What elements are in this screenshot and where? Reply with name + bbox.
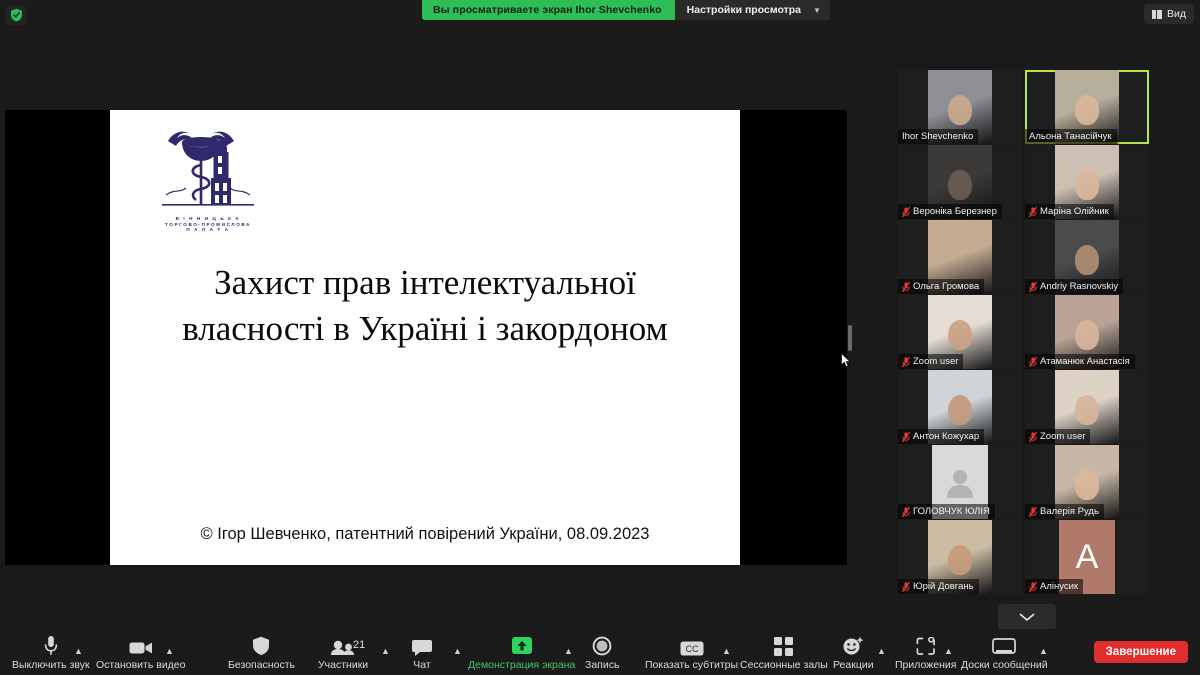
participant-name-label: Zoom user	[898, 354, 963, 369]
record-button[interactable]: Запись	[585, 634, 619, 671]
video-options-caret-icon[interactable]: ▲	[165, 646, 174, 656]
end-meeting-button[interactable]: Завершение	[1094, 641, 1188, 663]
share-screen-button-label: Демонстрация экрана	[468, 659, 575, 671]
participant-name-text: Юрій Довгань	[913, 581, 974, 592]
screen-share-notice-bar: Вы просматриваете экран Ihor Shevchenko …	[422, 0, 830, 20]
participant-name-text: Алінусик	[1040, 581, 1078, 592]
participant-name-text: ГОЛОВЧУК ЮЛІЯ	[913, 506, 990, 517]
share-screen-icon	[510, 634, 534, 656]
microphone-muted-icon	[1029, 282, 1037, 292]
breakout-rooms-grid-icon	[774, 634, 793, 656]
slide-footer-credit: © Ігор Шевченко, патентний повірений Укр…	[110, 525, 740, 544]
encryption-shield-icon[interactable]	[6, 5, 26, 25]
participant-tile[interactable]: Ihor Shevchenko	[898, 70, 1022, 144]
participant-name-text: Andriy Rasnovskiy	[1040, 281, 1118, 292]
grid-view-icon	[1152, 10, 1163, 19]
security-button-label: Безопасность	[228, 659, 295, 671]
mute-button-label: Выключить звук	[12, 659, 90, 671]
participant-name-text: Zoom user	[913, 356, 958, 367]
microphone-icon	[44, 634, 58, 656]
logo-caption-line-3: П А Л А Т А	[160, 227, 256, 233]
view-options-button[interactable]: Настройки просмотра ▼	[673, 0, 830, 20]
top-bar: Вы просматриваете экран Ihor Shevchenko …	[0, 0, 1200, 28]
participant-name-text: Антон Кожухар	[913, 431, 979, 442]
participant-tile[interactable]: ГОЛОВЧУК ЮЛІЯ	[898, 445, 1022, 519]
whiteboards-button[interactable]: Доски сообщений	[961, 634, 1048, 671]
participant-name-label: Атаманюк Анастасія	[1025, 354, 1135, 369]
participant-name-label: Юрій Довгань	[898, 579, 979, 594]
apps-icon	[916, 634, 936, 656]
apps-button-label: Приложения	[895, 659, 956, 671]
breakout-rooms-button-label: Сессионные залы	[740, 659, 828, 671]
apps-caret-icon[interactable]: ▲	[944, 646, 953, 656]
security-button[interactable]: Безопасность	[228, 634, 295, 671]
view-button[interactable]: Вид	[1144, 4, 1195, 24]
participant-name-text: Ольга Громова	[913, 281, 979, 292]
reactions-button-label: Реакции	[833, 659, 874, 671]
audio-options-caret-icon[interactable]: ▲	[74, 646, 83, 656]
participant-tile[interactable]: Маріна Олійник	[1025, 145, 1149, 219]
captions-caret-icon[interactable]: ▲	[722, 646, 731, 656]
sharing-notice-text: Вы просматриваете экран Ihor Shevchenko	[422, 0, 673, 20]
whiteboard-icon	[992, 634, 1016, 656]
svg-text:CC: CC	[685, 644, 698, 654]
participant-name-label: Маріна Олійник	[1025, 204, 1114, 219]
participant-name-text: Ihor Shevchenko	[902, 131, 973, 142]
mouse-cursor	[841, 353, 851, 368]
chat-bubble-icon	[412, 634, 432, 656]
logo-caption: В І Н Н И Ц Ь К А ТОРГОВО-ПРОМИСЛОВА П А…	[160, 216, 256, 233]
chevron-down-icon: ▼	[813, 6, 821, 15]
microphone-muted-icon	[1029, 357, 1037, 367]
vinnytsia-chamber-of-commerce-logo: В І Н Н И Ц Ь К А ТОРГОВО-ПРОМИСЛОВА П А…	[160, 125, 256, 235]
participant-name-label: Ольга Громова	[898, 279, 984, 294]
closed-captions-icon: CC	[680, 634, 704, 656]
participant-name-text: Вероніка Березнер	[913, 206, 997, 217]
participant-tile[interactable]: Юрій Довгань	[898, 520, 1022, 594]
view-options-label: Настройки просмотра	[687, 4, 801, 16]
microphone-muted-icon	[902, 432, 910, 442]
microphone-muted-icon	[902, 357, 910, 367]
reactions-smiley-icon	[842, 634, 864, 656]
microphone-muted-icon	[902, 507, 910, 517]
participant-tile[interactable]: Andriy Rasnovskiy	[1025, 220, 1149, 294]
scroll-more-participants-button[interactable]	[998, 604, 1056, 630]
slide-title: Захист прав інтелектуальної власності в …	[150, 260, 700, 352]
participant-tile[interactable]: Ольга Громова	[898, 220, 1022, 294]
chat-caret-icon[interactable]: ▲	[453, 646, 462, 656]
share-caret-icon[interactable]: ▲	[564, 646, 573, 656]
participant-tile[interactable]: AАлінусик	[1025, 520, 1149, 594]
participant-name-label: Альона Танасійчук	[1025, 129, 1117, 144]
presentation-slide: В І Н Н И Ц Ь К А ТОРГОВО-ПРОМИСЛОВА П А…	[110, 110, 740, 565]
participant-tile[interactable]: Вероніка Березнер	[898, 145, 1022, 219]
microphone-muted-icon	[902, 582, 910, 592]
chevron-down-icon	[1019, 613, 1035, 622]
participant-name-label: ГОЛОВЧУК ЮЛІЯ	[898, 504, 995, 519]
stop-video-button-label: Остановить видео	[96, 659, 185, 671]
view-button-label: Вид	[1167, 8, 1186, 20]
participants-count-badge: 21	[353, 639, 365, 651]
participant-name-text: Валерія Рудь	[1040, 506, 1099, 517]
reactions-caret-icon[interactable]: ▲	[877, 646, 886, 656]
participant-tile[interactable]: Альона Танасійчук	[1025, 70, 1149, 144]
participant-tile[interactable]: Zoom user	[1025, 370, 1149, 444]
participant-tile[interactable]: Валерія Рудь	[1025, 445, 1149, 519]
chat-button-label: Чат	[413, 659, 430, 671]
participant-name-text: Маріна Олійник	[1040, 206, 1109, 217]
shield-icon	[252, 634, 270, 656]
chat-button[interactable]: Чат	[412, 634, 432, 671]
shared-screen-stage[interactable]: В І Н Н И Ц Ь К А ТОРГОВО-ПРОМИСЛОВА П А…	[5, 110, 847, 565]
shield-check-icon	[10, 8, 23, 22]
microphone-muted-icon	[1029, 207, 1037, 217]
participant-name-text: Альона Танасійчук	[1029, 131, 1112, 142]
participant-name-label: Вероніка Березнер	[898, 204, 1002, 219]
meeting-toolbar: Выключить звук ▲ Остановить видео ▲ Безо…	[0, 629, 1200, 675]
participant-name-label: Алінусик	[1025, 579, 1083, 594]
whiteboards-button-label: Доски сообщений	[961, 659, 1048, 671]
participant-name-label: Ihor Shevchenko	[898, 129, 978, 144]
participant-tile[interactable]: Zoom user	[898, 295, 1022, 369]
camera-icon	[129, 634, 153, 656]
captions-button-label: Показать субтитры	[645, 659, 738, 671]
participant-tile[interactable]: Антон Кожухар	[898, 370, 1022, 444]
participant-name-label: Антон Кожухар	[898, 429, 984, 444]
breakout-rooms-button[interactable]: Сессионные залы	[740, 634, 828, 671]
microphone-muted-icon	[902, 282, 910, 292]
participant-name-label: Валерія Рудь	[1025, 504, 1104, 519]
logo-artwork	[160, 125, 256, 217]
microphone-muted-icon	[1029, 582, 1037, 592]
microphone-muted-icon	[902, 207, 910, 217]
participant-name-label: Andriy Rasnovskiy	[1025, 279, 1123, 294]
record-circle-icon	[592, 634, 612, 656]
participant-name-text: Zoom user	[1040, 431, 1085, 442]
microphone-muted-icon	[1029, 432, 1037, 442]
participant-name-text: Атаманюк Анастасія	[1040, 356, 1130, 367]
stage-resize-handle[interactable]	[848, 325, 852, 351]
participants-button-label: Участники	[318, 659, 368, 671]
microphone-muted-icon	[1029, 507, 1037, 517]
reactions-button[interactable]: Реакции	[833, 634, 874, 671]
participant-tile[interactable]: Атаманюк Анастасія	[1025, 295, 1149, 369]
record-button-label: Запись	[585, 659, 619, 671]
participant-name-label: Zoom user	[1025, 429, 1090, 444]
share-screen-button[interactable]: Демонстрация экрана	[468, 634, 575, 671]
participants-caret-icon[interactable]: ▲	[381, 646, 390, 656]
whiteboards-caret-icon[interactable]: ▲	[1039, 646, 1048, 656]
